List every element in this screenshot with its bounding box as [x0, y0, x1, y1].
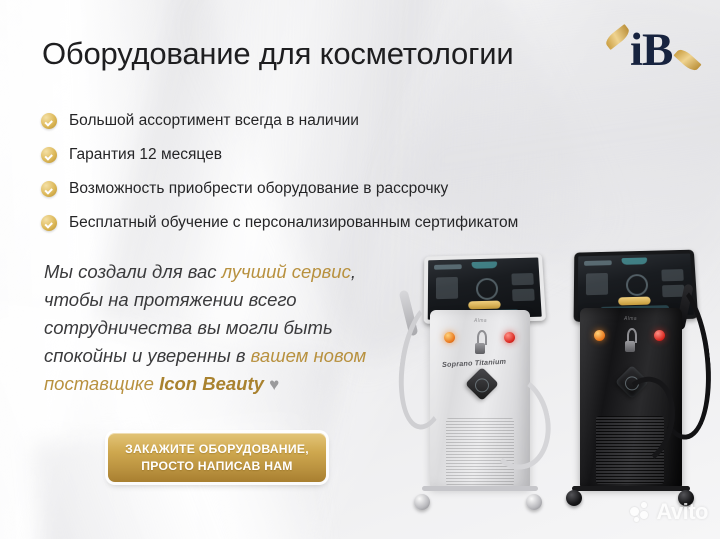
paragraph-highlight-1: лучший сервис	[222, 261, 351, 282]
list-item: Возможность приобрести оборудование в ра…	[41, 172, 518, 206]
promo-banner: Оборудование для косметологии iB Большой…	[0, 0, 720, 539]
laser-machine-black: Alma	[568, 250, 696, 512]
check-circle-icon	[41, 113, 57, 129]
avito-wordmark: Avito	[656, 499, 708, 525]
heart-icon: ♥	[269, 375, 279, 394]
avito-logo-icon	[630, 502, 651, 523]
check-circle-icon	[41, 147, 57, 163]
list-item: Бесплатный обучение с персонализированны…	[41, 206, 518, 240]
machine-wheel	[526, 494, 542, 510]
machine-wheel	[566, 490, 582, 506]
list-item-label: Большой ассортимент всегда в наличии	[69, 112, 359, 130]
product-photo: Alma Soprano Titanium Alma	[398, 246, 720, 539]
page-title: Оборудование для косметологии	[42, 36, 513, 72]
brand-logo: iB	[604, 18, 700, 84]
indicator-light-orange	[594, 330, 605, 341]
machine-base	[422, 486, 538, 491]
list-item: Большой ассортимент всегда в наличии	[41, 104, 518, 138]
indicator-light-red	[504, 332, 515, 343]
applicator-hook-icon	[474, 330, 486, 356]
order-equipment-button[interactable]: ЗАКАЖИТЕ ОБОРУДОВАНИЕ, ПРОСТО НАПИСАВ НА…	[108, 433, 326, 482]
check-circle-icon	[41, 215, 57, 231]
cta-line-1: ЗАКАЖИТЕ ОБОРУДОВАНИЕ,	[125, 441, 309, 458]
paragraph-part-1: Мы создали для вас	[44, 261, 222, 282]
avito-watermark: Avito	[630, 499, 708, 525]
list-item-label: Бесплатный обучение с персонализированны…	[69, 214, 518, 232]
check-circle-icon	[41, 181, 57, 197]
machine-brand-label: Alma	[624, 316, 637, 322]
machine-base	[572, 486, 690, 491]
machine-brand-label: Alma	[474, 318, 487, 324]
list-item-label: Гарантия 12 месяцев	[69, 146, 222, 164]
cta-line-2: ПРОСТО НАПИСАВ НАМ	[141, 458, 292, 475]
laurel-leaf-icon	[603, 24, 632, 50]
laser-machine-white: Alma Soprano Titanium	[416, 254, 544, 512]
machine-wheel	[414, 494, 430, 510]
laurel-leaf-icon	[673, 47, 701, 74]
brand-name: Icon Beauty	[159, 373, 264, 394]
feature-list: Большой ассортимент всегда в наличии Гар…	[41, 104, 518, 240]
applicator-hook-icon	[624, 328, 636, 354]
list-item: Гарантия 12 месяцев	[41, 138, 518, 172]
list-item-label: Возможность приобрести оборудование в ра…	[69, 180, 448, 198]
promo-paragraph: Мы создали для вас лучший сервис, чтобы …	[44, 258, 409, 399]
logo-monogram: iB	[630, 22, 676, 80]
